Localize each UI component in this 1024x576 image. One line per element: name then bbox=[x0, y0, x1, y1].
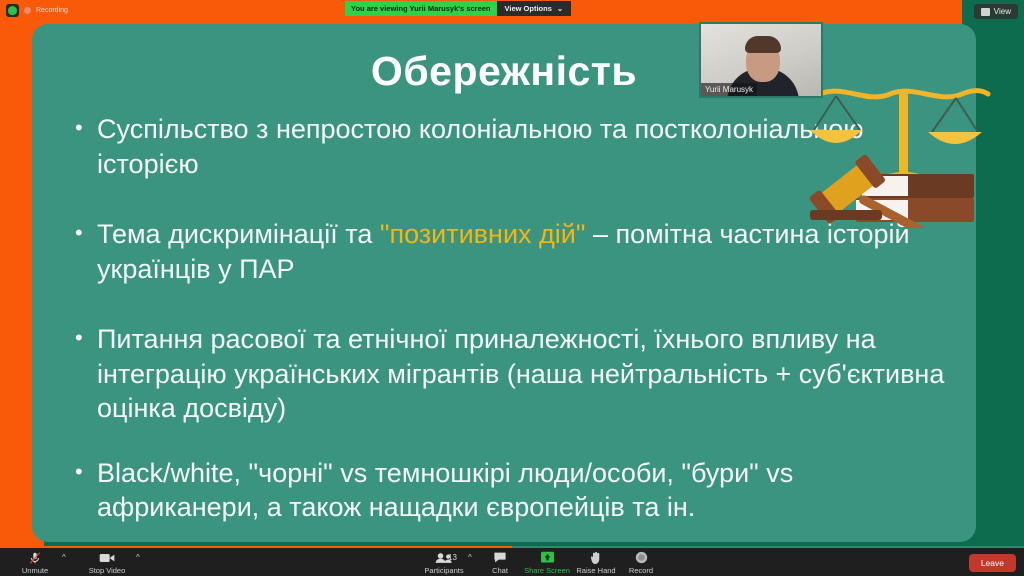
recording-label: Recording bbox=[36, 7, 68, 14]
participants-button[interactable]: Participants bbox=[413, 550, 475, 575]
meeting-toolbar: Unmute ^ Stop Video ^ Partic bbox=[0, 546, 1024, 576]
chevron-down-icon: ⌄ bbox=[557, 4, 563, 13]
view-layout-button[interactable]: View bbox=[974, 4, 1018, 19]
raise-hand-icon bbox=[590, 550, 602, 565]
stop-video-label: Stop Video bbox=[89, 566, 126, 575]
bullet-marker: • bbox=[75, 112, 97, 181]
record-label: Record bbox=[629, 566, 653, 575]
unmute-button[interactable]: Unmute bbox=[4, 550, 66, 575]
chat-icon bbox=[493, 550, 507, 565]
presentation-slide: Обережність • Суспільство з непростою ко… bbox=[32, 24, 976, 542]
record-button[interactable]: Record bbox=[610, 550, 672, 575]
bullet-text: Питання расової та етнічної приналежност… bbox=[97, 322, 955, 426]
bullet-marker: • bbox=[75, 456, 97, 525]
bullet-marker: • bbox=[75, 322, 97, 426]
grid-view-icon bbox=[981, 8, 990, 16]
screen-share-banner: You are viewing Yurii Marusyk's screen V… bbox=[345, 1, 571, 16]
zoom-meeting-window: Обережність • Суспільство з непростою ко… bbox=[0, 0, 1024, 576]
stop-video-button[interactable]: Stop Video bbox=[76, 550, 138, 575]
share-screen-label: Share Screen bbox=[524, 566, 570, 575]
participants-count: 13 bbox=[448, 553, 457, 562]
toolbar-accent-left bbox=[0, 546, 512, 548]
bullet-text: Black/white, "чорні" vs темношкірі люди/… bbox=[97, 456, 955, 525]
share-banner-text: You are viewing Yurii Marusyk's screen bbox=[345, 1, 497, 16]
view-options-label: View Options bbox=[505, 4, 552, 13]
shared-screen-stage: Обережність • Суспільство з непростою ко… bbox=[0, 0, 1024, 546]
chat-label: Chat bbox=[492, 566, 508, 575]
video-person-hair bbox=[745, 36, 781, 53]
scales-of-justice-icon bbox=[804, 80, 1004, 228]
record-circle-icon bbox=[635, 550, 648, 565]
view-button-label: View bbox=[994, 7, 1011, 16]
share-screen-icon bbox=[540, 550, 555, 565]
toolbar-accent-right bbox=[512, 546, 1024, 548]
list-item: • Питання расової та етнічної приналежно… bbox=[75, 322, 955, 426]
view-options-button[interactable]: View Options ⌄ bbox=[497, 1, 572, 16]
participants-label: Participants bbox=[424, 566, 463, 575]
leave-button[interactable]: Leave bbox=[969, 554, 1016, 572]
security-shield-icon bbox=[6, 4, 19, 17]
audio-options-caret-icon[interactable]: ^ bbox=[62, 553, 66, 562]
bullet-marker: • bbox=[75, 217, 97, 286]
camera-icon bbox=[99, 550, 115, 565]
record-dot-icon bbox=[24, 7, 31, 14]
video-options-caret-icon[interactable]: ^ bbox=[136, 553, 140, 562]
highlighted-phrase: "позитивних дій" bbox=[380, 219, 586, 249]
recording-indicator[interactable]: Recording bbox=[6, 4, 68, 17]
microphone-muted-icon bbox=[28, 550, 42, 565]
unmute-label: Unmute bbox=[22, 566, 48, 575]
participant-video-thumbnail[interactable]: Yurii Marusyk bbox=[699, 22, 823, 98]
list-item: • Black/white, "чорні" vs темношкірі люд… bbox=[75, 456, 955, 525]
participant-name-label: Yurii Marusyk bbox=[701, 83, 757, 96]
